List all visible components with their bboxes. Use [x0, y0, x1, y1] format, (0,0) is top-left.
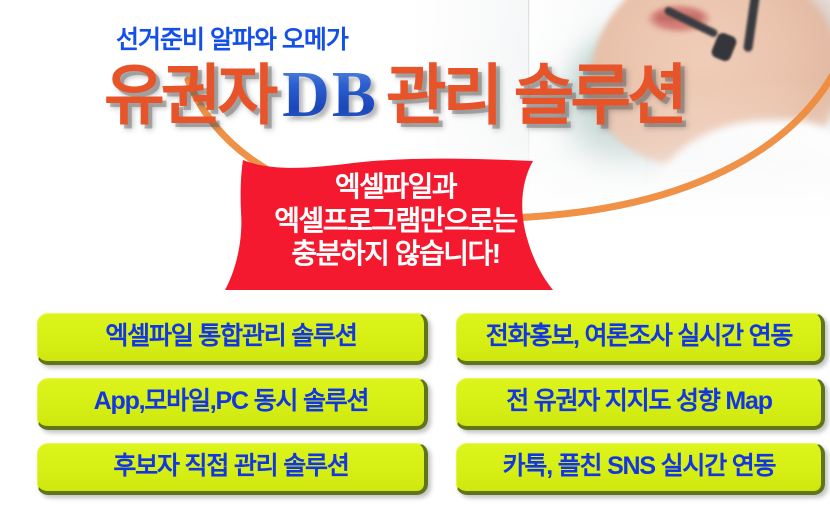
title-part-2: 관리 솔루션 — [386, 62, 684, 128]
promo-banner: 선거준비 알파와 오메가 유권자 DB 관리 솔루션 엑셀파일과 엑셀프로그램만… — [0, 0, 830, 520]
page-title: 유권자 DB 관리 솔루션 — [104, 62, 684, 128]
feature-button-label: App,모바일,PC 동시 솔루션 — [94, 389, 369, 414]
feature-button-grid: 엑셀파일 통합관리 솔루션 전화홍보, 여론조사 실시간 연동 App,모바일,… — [37, 313, 797, 495]
feature-button-label: 전화홍보, 여론조사 실시간 연동 — [486, 324, 792, 349]
feature-button-label: 카톡, 플친 SNS 실시간 연동 — [503, 454, 776, 479]
highlight-badge: 엑셀파일과 엑셀프로그램만으로는 충분하지 않습니다! — [213, 158, 564, 291]
feature-button-multiplatform[interactable]: App,모바일,PC 동시 솔루션 — [37, 378, 428, 430]
title-db-label: DB — [274, 62, 386, 128]
feature-button-candidate-management[interactable]: 후보자 직접 관리 솔루션 — [37, 443, 428, 495]
feature-button-label: 후보자 직접 관리 솔루션 — [113, 454, 348, 479]
badge-line-2: 엑셀프로그램만으로는 — [227, 204, 564, 238]
feature-button-phone-survey[interactable]: 전화홍보, 여론조사 실시간 연동 — [456, 313, 825, 365]
badge-text: 엑셀파일과 엑셀프로그램만으로는 충분하지 않습니다! — [213, 170, 564, 271]
feature-button-label: 엑셀파일 통합관리 솔루션 — [105, 324, 356, 349]
feature-button-excel-integration[interactable]: 엑셀파일 통합관리 솔루션 — [37, 313, 428, 365]
badge-line-1: 엑셀파일과 — [227, 170, 564, 204]
feature-button-label: 전 유권자 지지도 성향 Map — [506, 389, 772, 414]
badge-line-3: 충분하지 않습니다! — [227, 237, 564, 271]
feature-button-sns-integration[interactable]: 카톡, 플친 SNS 실시간 연동 — [456, 443, 825, 495]
feature-button-voter-map[interactable]: 전 유권자 지지도 성향 Map — [456, 378, 825, 430]
title-part-1: 유권자 — [104, 62, 274, 128]
tagline: 선거준비 알파와 오메가 — [116, 20, 348, 56]
